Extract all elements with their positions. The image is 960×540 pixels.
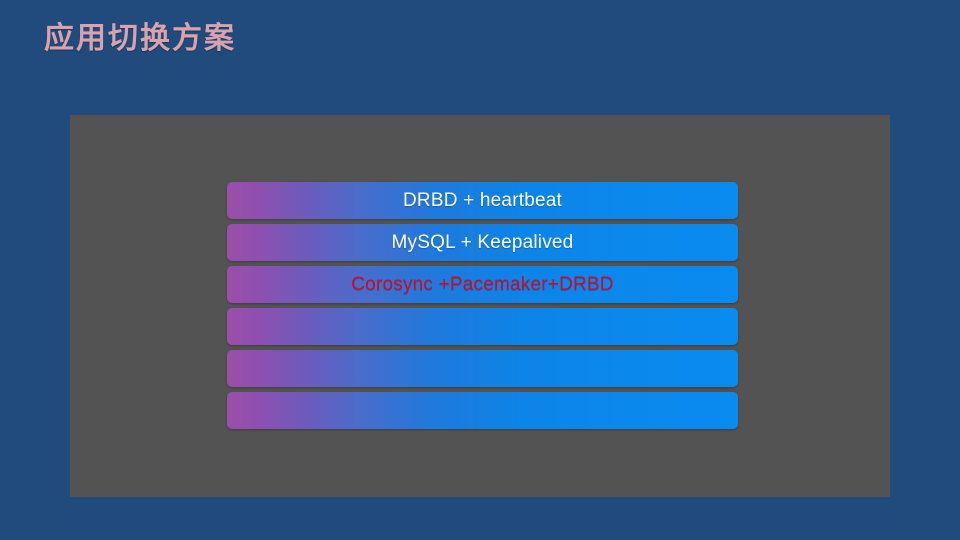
content-panel: DRBD + heartbeat MySQL + Keepalived Coro… [70,115,890,497]
solution-bar[interactable]: MySQL + Keepalived [227,224,738,261]
solution-bar[interactable]: DRBD + heartbeat [227,182,738,219]
solution-bar-empty[interactable] [227,308,738,345]
bar-stack: DRBD + heartbeat MySQL + Keepalived Coro… [227,182,738,429]
solution-bar-empty[interactable] [227,350,738,387]
slide: 应用切换方案 DRBD + heartbeat MySQL + Keepaliv… [0,0,960,540]
solution-bar-label: MySQL + Keepalived [392,233,574,253]
solution-bar[interactable]: Corosync +Pacemaker+DRBD [227,266,738,303]
solution-bar-label: DRBD + heartbeat [403,191,562,211]
page-title: 应用切换方案 [44,18,236,60]
solution-bar-empty[interactable] [227,392,738,429]
solution-bar-label: Corosync +Pacemaker+DRBD [351,275,613,295]
